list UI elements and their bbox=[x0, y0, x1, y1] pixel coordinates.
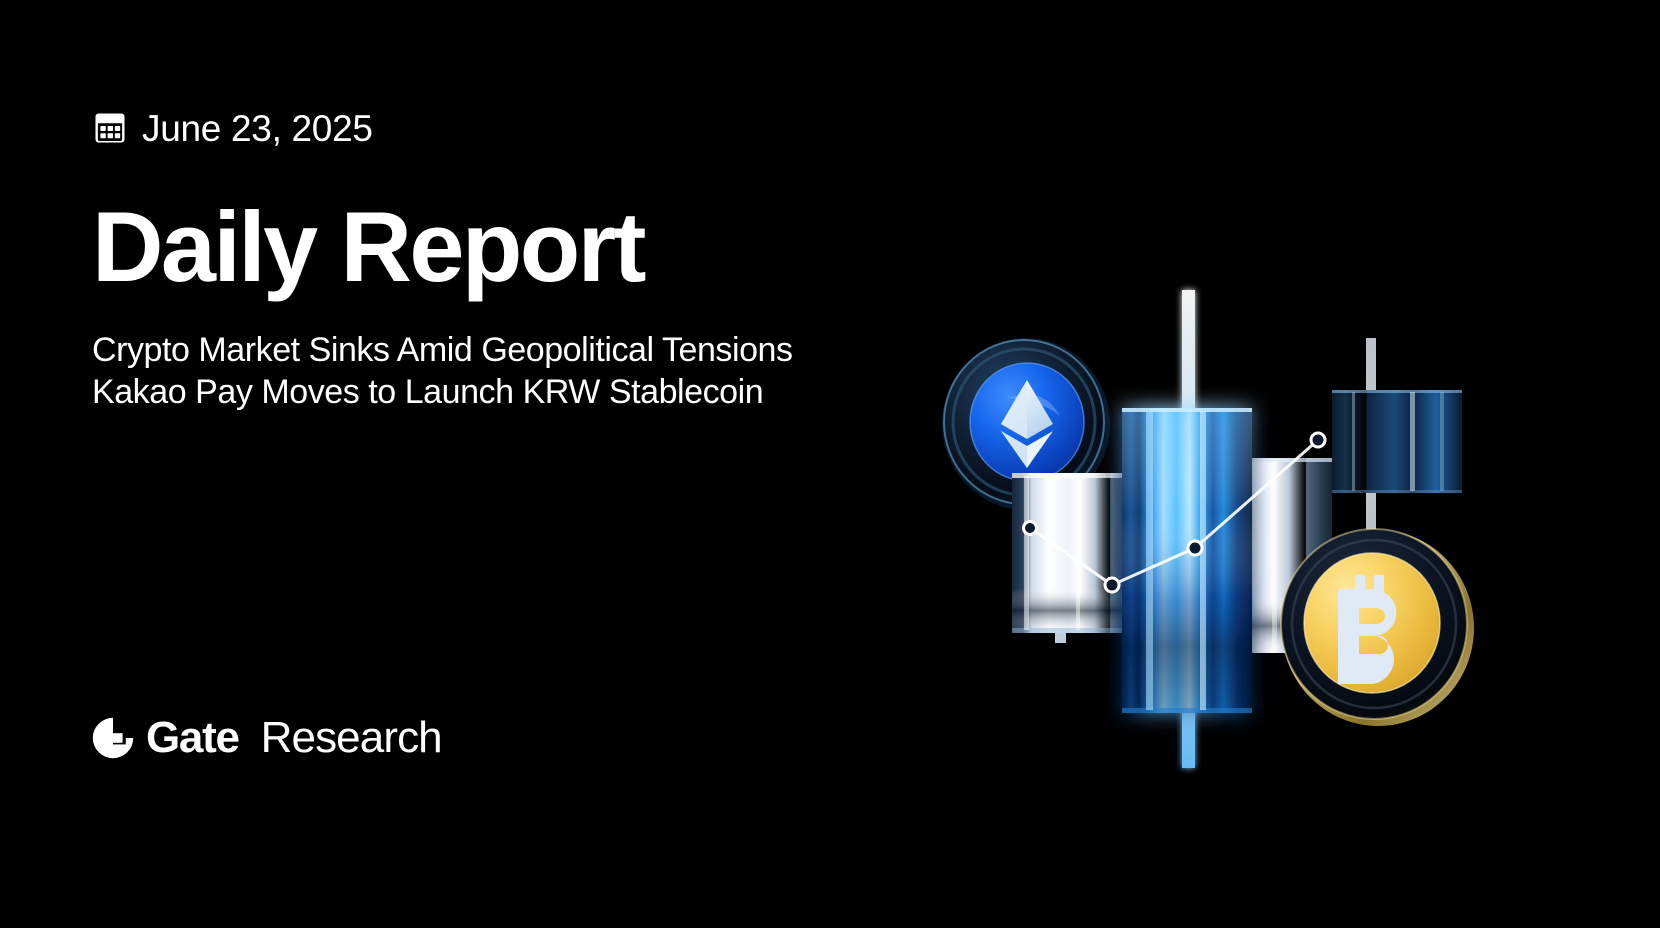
page-title: Daily Report bbox=[92, 198, 992, 295]
brand-lockup: Gate Research bbox=[92, 716, 442, 760]
candle-4-dark bbox=[1332, 390, 1462, 493]
subtitle-block: Crypto Market Sinks Amid Geopolitical Te… bbox=[92, 329, 992, 413]
date-row: June 23, 2025 bbox=[92, 105, 992, 151]
candle-1-silver bbox=[1012, 473, 1134, 633]
subtitle-line-1: Crypto Market Sinks Amid Geopolitical Te… bbox=[92, 329, 992, 371]
bitcoin-coin bbox=[1281, 529, 1474, 726]
brand-division: Research bbox=[261, 716, 442, 760]
gate-logo-icon bbox=[92, 717, 134, 759]
candle-2-blue bbox=[1122, 408, 1252, 713]
daily-report-banner: June 23, 2025 Daily Report Crypto Market… bbox=[0, 0, 1660, 928]
calendar-icon bbox=[92, 110, 128, 146]
brand-name: Gate bbox=[146, 716, 239, 760]
crypto-candlestick-illustration bbox=[900, 280, 1540, 800]
header-text-block: June 23, 2025 Daily Report Crypto Market… bbox=[92, 105, 992, 413]
report-date: June 23, 2025 bbox=[142, 110, 373, 147]
subtitle-line-2: Kakao Pay Moves to Launch KRW Stablecoin bbox=[92, 371, 992, 413]
